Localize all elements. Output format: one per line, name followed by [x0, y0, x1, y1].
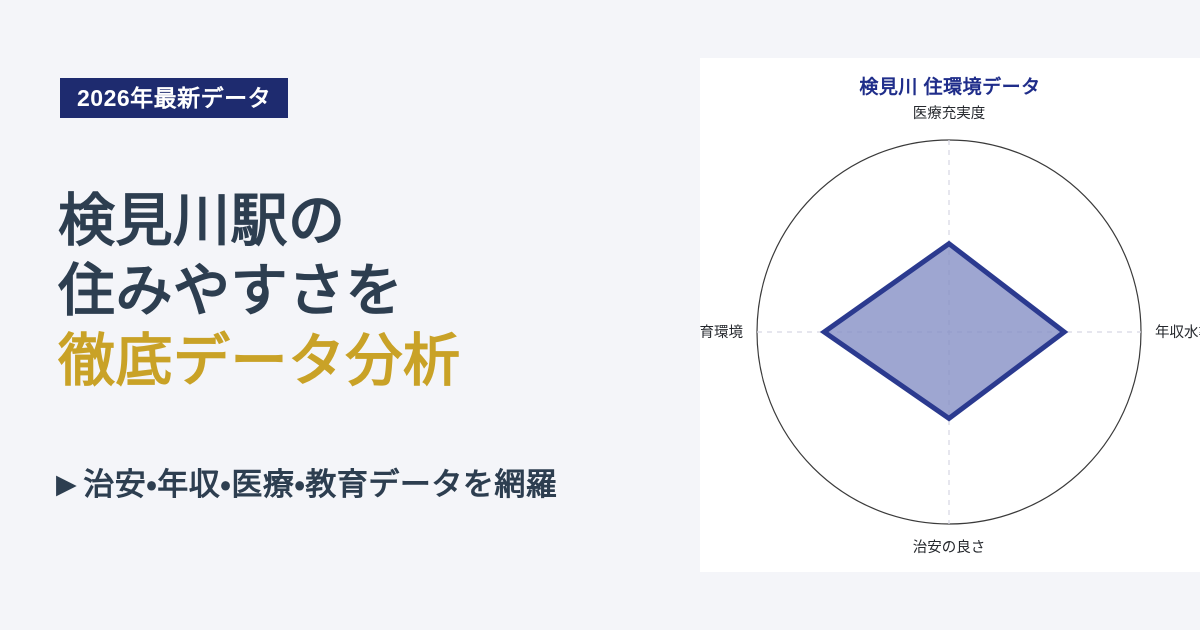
text-column: 2026年最新データ 検見川駅の 住みやすさを 徹底データ分析 ▶ 治安・年収・… — [0, 0, 700, 630]
chart-card: 検見川 住環境データ 医療充実度 年収水準 治安の良さ 教育環境 — [700, 58, 1200, 572]
status-badge: 2026年最新データ — [60, 78, 288, 118]
triangle-right-icon: ▶ — [56, 471, 77, 498]
radar-data-polygon — [824, 244, 1064, 419]
subtitle: ▶ 治安・年収・医療・教育データを網羅 — [56, 466, 557, 503]
poster-canvas: 2026年最新データ 検見川駅の 住みやすさを 徹底データ分析 ▶ 治安・年収・… — [0, 0, 1200, 630]
headline-line-3-accent: 徹底データ分析 — [58, 326, 678, 396]
headline-line-2: 住みやすさを — [58, 256, 678, 326]
axis-label-bottom: 治安の良さ — [913, 539, 986, 556]
axis-label-right: 年収水準 — [1155, 324, 1200, 341]
badge-label: 2026年最新データ — [77, 87, 271, 110]
radar-chart: 医療充実度 年収水準 治安の良さ 教育環境 — [700, 58, 1200, 572]
headline-line-1: 検見川駅の — [58, 186, 678, 256]
page-title: 検見川駅の 住みやすさを 徹底データ分析 — [58, 186, 678, 396]
axis-label-left: 教育環境 — [700, 324, 743, 341]
axis-label-top: 医療充実度 — [913, 105, 986, 122]
subtitle-text: 治安・年収・医療・教育データを網羅 — [83, 466, 557, 503]
